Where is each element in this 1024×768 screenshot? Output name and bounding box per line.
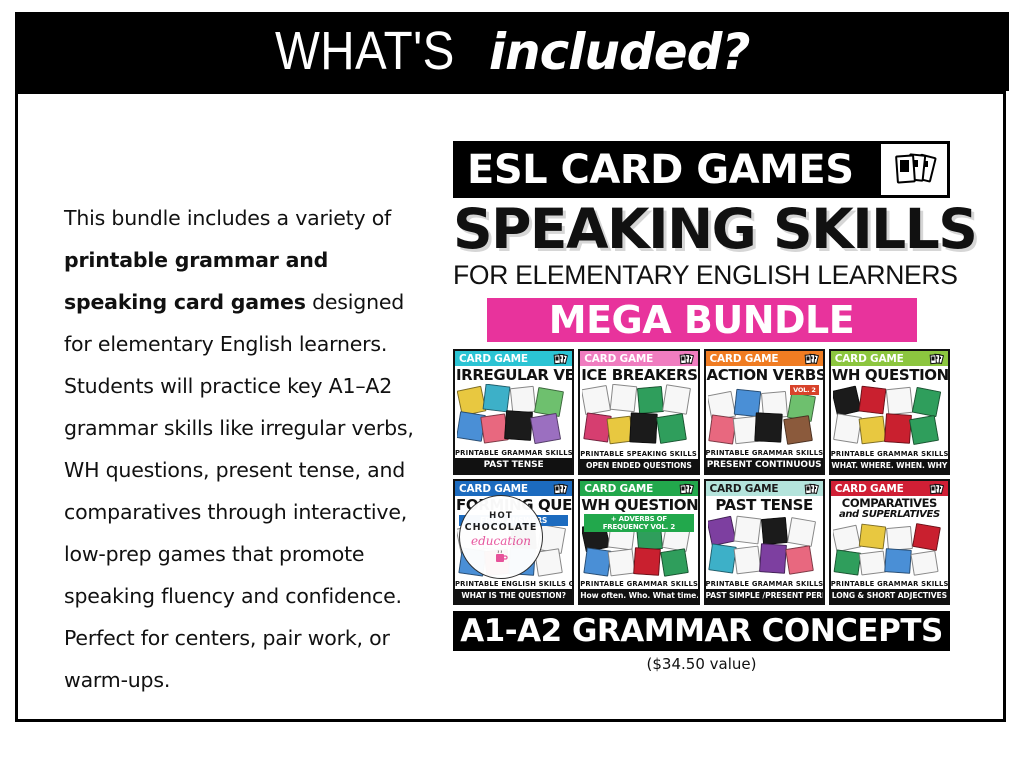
mini-card-forming-questions[interactable]: CARD GAME FORMING QUESTIONS FROM ANSWERS… bbox=[453, 479, 574, 605]
watermark-line-3: education bbox=[471, 534, 531, 548]
mini-card-title: WH QUESTIONS bbox=[580, 496, 697, 513]
mini-card-photo bbox=[833, 522, 946, 579]
mini-card-title: WH QUESTIONS bbox=[831, 366, 948, 383]
mini-card-head-label: CARD GAME bbox=[835, 353, 904, 365]
slide-page: WHAT'Sincluded? This bundle includes a v… bbox=[0, 0, 1024, 768]
mini-card-footer-top: PRINTABLE GRAMMAR SKILLS GAME bbox=[831, 579, 948, 589]
playing-cards-fan-icon bbox=[928, 483, 945, 495]
mini-card-footer-top: PRINTABLE GRAMMAR SKILLS GAME bbox=[706, 448, 823, 458]
cover-subhead: FOR ELEMENTARY ENGLISH LEARNERS bbox=[453, 260, 950, 290]
hot-chocolate-mug-icon bbox=[494, 550, 508, 563]
page-title: WHAT'Sincluded? bbox=[275, 24, 750, 79]
mini-card-sub-badge: + ADVERBS OF FREQUENCY VOL. 2 bbox=[584, 514, 693, 532]
page-title-bold: included? bbox=[489, 23, 750, 81]
mini-card-wh-questions-adverbs[interactable]: CARD GAME WH QUESTIONS + ADVERBS OF FREQ… bbox=[578, 479, 699, 605]
mini-card-head-label: CARD GAME bbox=[584, 483, 653, 495]
mini-card-ice-breakers[interactable]: CARD GAME ICE BREAKERS PRINTABLE SPEAKIN… bbox=[578, 349, 699, 475]
mini-card-title: IRREGULAR VERBS bbox=[455, 366, 572, 383]
header-banner: WHAT'Sincluded? bbox=[15, 12, 1009, 91]
playing-cards-fan-icon bbox=[888, 150, 940, 190]
description-paragraph: This bundle includes a variety of printa… bbox=[64, 197, 436, 701]
mini-card-photo bbox=[833, 384, 946, 449]
mini-card-header: CARD GAME bbox=[455, 481, 572, 496]
mini-card-header: CARD GAME bbox=[455, 351, 572, 366]
playing-cards-fan-icon bbox=[803, 353, 820, 365]
cover-eyebrow-text: ESL CARD GAMES bbox=[467, 147, 854, 193]
cover-bottom-band: A1-A2 GRAMMAR CONCEPTS bbox=[453, 611, 950, 651]
mini-card-header: CARD GAME bbox=[831, 481, 948, 496]
mini-card-footer-top: PRINTABLE GRAMMAR SKILLS GAME bbox=[580, 579, 697, 589]
mini-card-title-line-2: and SUPERLATIVES bbox=[832, 509, 947, 521]
mini-card-footer-bar: PAST SIMPLE /PRESENT PERFECT bbox=[706, 589, 823, 603]
mini-card-volume-badge: VOL. 2 bbox=[790, 385, 819, 395]
mini-card-photo bbox=[582, 384, 695, 449]
mini-card-header: CARD GAME bbox=[580, 351, 697, 366]
mini-card-footer-bar: How often. Who. What time. How? bbox=[580, 589, 697, 603]
mini-card-irregular-verbs[interactable]: CARD GAME IRREGULAR VERBS PRINTABLE GRAM… bbox=[453, 349, 574, 475]
playing-cards-fan-icon bbox=[928, 353, 945, 365]
mini-card-footer-bar: OPEN ENDED QUESTIONS bbox=[580, 459, 697, 473]
mini-card-photo: VOL. 2 bbox=[708, 384, 821, 448]
mini-card-head-label: CARD GAME bbox=[835, 483, 904, 495]
mini-card-photo bbox=[708, 514, 821, 579]
mega-bundle-label: MEGA BUNDLE bbox=[549, 298, 854, 342]
mini-card-wh-questions[interactable]: CARD GAME WH QUESTIONS PRINTABLE GRAMMAR… bbox=[829, 349, 950, 475]
watermark-line-1: HOT bbox=[489, 511, 513, 521]
mini-card-past-tense[interactable]: CARD GAME PAST TENSE PRINTABLE GRAMMAR S… bbox=[704, 479, 825, 605]
mini-card-footer-bar: WHAT IS THE QUESTION? bbox=[455, 589, 572, 603]
mini-card-photo: + ADVERBS OF FREQUENCY VOL. 2 bbox=[582, 514, 695, 579]
mini-card-footer-top: PRINTABLE GRAMMAR SKILLS GAME bbox=[831, 449, 948, 459]
mini-card-header: CARD GAME bbox=[831, 351, 948, 366]
product-cover[interactable]: ESL CARD GAMES SPEAKING SKILL bbox=[453, 141, 950, 652]
cover-eyebrow-row: ESL CARD GAMES bbox=[453, 141, 950, 198]
description-part-2: designed for elementary English learners… bbox=[64, 290, 414, 692]
playing-cards-fan-icon bbox=[678, 353, 695, 365]
mini-card-head-label: CARD GAME bbox=[584, 353, 653, 365]
mini-card-footer-top: PRINTABLE GRAMMAR SKILLS GAME bbox=[706, 579, 823, 589]
mini-card-footer-top: PRINTABLE SPEAKING SKILLS GAME bbox=[580, 449, 697, 459]
page-title-light: WHAT'S bbox=[275, 24, 455, 78]
cover-cards-icon-box bbox=[878, 141, 950, 198]
value-note: ($34.50 value) bbox=[453, 655, 950, 673]
cover-eyebrow-band: ESL CARD GAMES bbox=[453, 141, 878, 198]
mini-card-footer-top: PRINTABLE ENGLISH SKILLS GAME bbox=[455, 579, 572, 589]
watermark-line-2: CHOCOLATE bbox=[465, 522, 538, 533]
mini-card-footer-bar: WHAT. WHERE. WHEN. WHY bbox=[831, 459, 948, 473]
mini-card-action-verbs[interactable]: CARD GAME ACTION VERBS VOL. 2 PRINTABLE … bbox=[704, 349, 825, 475]
mini-card-header: CARD GAME bbox=[706, 481, 823, 496]
playing-cards-fan-icon bbox=[552, 353, 569, 365]
playing-cards-fan-icon bbox=[678, 483, 695, 495]
mini-cards-grid: CARD GAME IRREGULAR VERBS PRINTABLE GRAM… bbox=[453, 349, 950, 605]
mini-card-footer-bar: PRESENT CONTINUOUS bbox=[706, 458, 823, 473]
mini-card-footer-bar: LONG & SHORT ADJECTIVES bbox=[831, 589, 948, 603]
mini-card-title: COMPARATIVES and SUPERLATIVES bbox=[831, 496, 948, 521]
cover-headline: SPEAKING SKILLS bbox=[453, 200, 950, 258]
mini-card-footer-top: PRINTABLE GRAMMAR SKILLS GAME bbox=[455, 448, 572, 458]
mega-bundle-badge: MEGA BUNDLE bbox=[487, 298, 917, 342]
mini-card-title-line-1: COMPARATIVES bbox=[842, 496, 937, 510]
mini-card-header: CARD GAME bbox=[706, 351, 823, 366]
mini-card-head-label: CARD GAME bbox=[710, 353, 779, 365]
mini-card-footer-bar: PAST TENSE bbox=[455, 458, 572, 473]
mini-card-head-label: CARD GAME bbox=[459, 353, 528, 365]
description-highlight: printable grammar and speaking card game… bbox=[64, 248, 328, 314]
mini-card-head-label: CARD GAME bbox=[710, 483, 779, 495]
brand-watermark: HOT CHOCOLATE education bbox=[459, 495, 543, 579]
mini-card-title: PAST TENSE bbox=[706, 496, 823, 513]
mini-card-header: CARD GAME bbox=[580, 481, 697, 496]
cover-bottom-band-label: A1-A2 GRAMMAR CONCEPTS bbox=[460, 613, 943, 649]
mini-card-title: ACTION VERBS bbox=[706, 366, 823, 383]
description-part-1: This bundle includes a variety of bbox=[64, 206, 391, 230]
mini-card-photo bbox=[457, 384, 570, 448]
playing-cards-fan-icon bbox=[803, 483, 820, 495]
playing-cards-fan-icon bbox=[552, 483, 569, 495]
mini-card-title: ICE BREAKERS bbox=[580, 366, 697, 383]
mini-card-comparatives-superlatives[interactable]: CARD GAME COMPARATIVES and SUPERLATIVES bbox=[829, 479, 950, 605]
mini-card-head-label: CARD GAME bbox=[459, 483, 528, 495]
